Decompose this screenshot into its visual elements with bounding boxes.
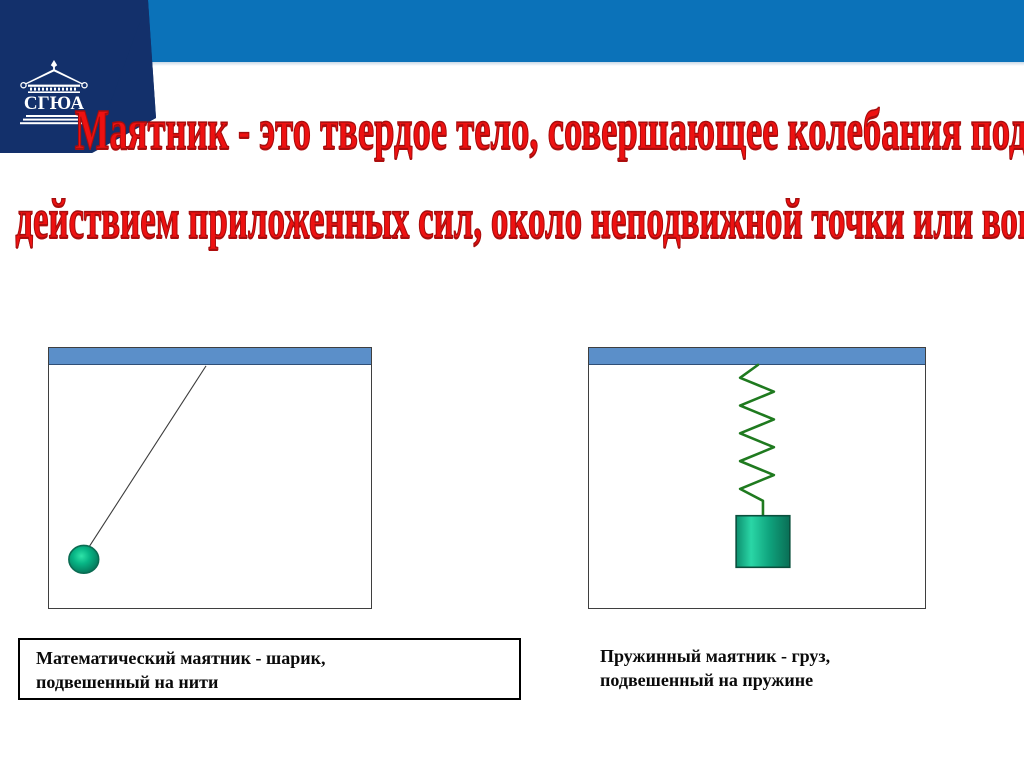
- slide-title: Маятник - это твердое тело, совершающее …: [0, 96, 1024, 225]
- caption-simple-pendulum-line2: подвешенный на нити: [36, 671, 519, 695]
- caption-spring-pendulum: Пружинный маятник - груз, подвешенный на…: [600, 645, 1000, 693]
- caption-simple-pendulum-line1: Математический маятник - шарик,: [36, 647, 519, 671]
- caption-spring-pendulum-line1: Пружинный маятник - груз,: [600, 645, 1000, 669]
- caption-simple-pendulum: Математический маятник - шарик, подвешен…: [18, 638, 521, 700]
- spring-weight: [736, 516, 790, 568]
- caption-spring-pendulum-line2: подвешенный на пружине: [600, 669, 1000, 693]
- title-line-1: Маятник - это твердое тело, совершающее …: [75, 96, 1019, 160]
- pendulum-drawing: [49, 348, 371, 608]
- slide: СГЮА Маятник - это твердое тело, соверша…: [0, 0, 1024, 767]
- pendulum-bob: [69, 545, 99, 573]
- spring-drawing: [589, 348, 925, 608]
- figure-spring-pendulum: [588, 347, 926, 609]
- pendulum-string: [87, 366, 206, 551]
- title-line-2: действием приложенных сил, около неподви…: [15, 185, 1008, 247]
- figure-simple-pendulum: [48, 347, 372, 609]
- spring-coil: [740, 365, 774, 517]
